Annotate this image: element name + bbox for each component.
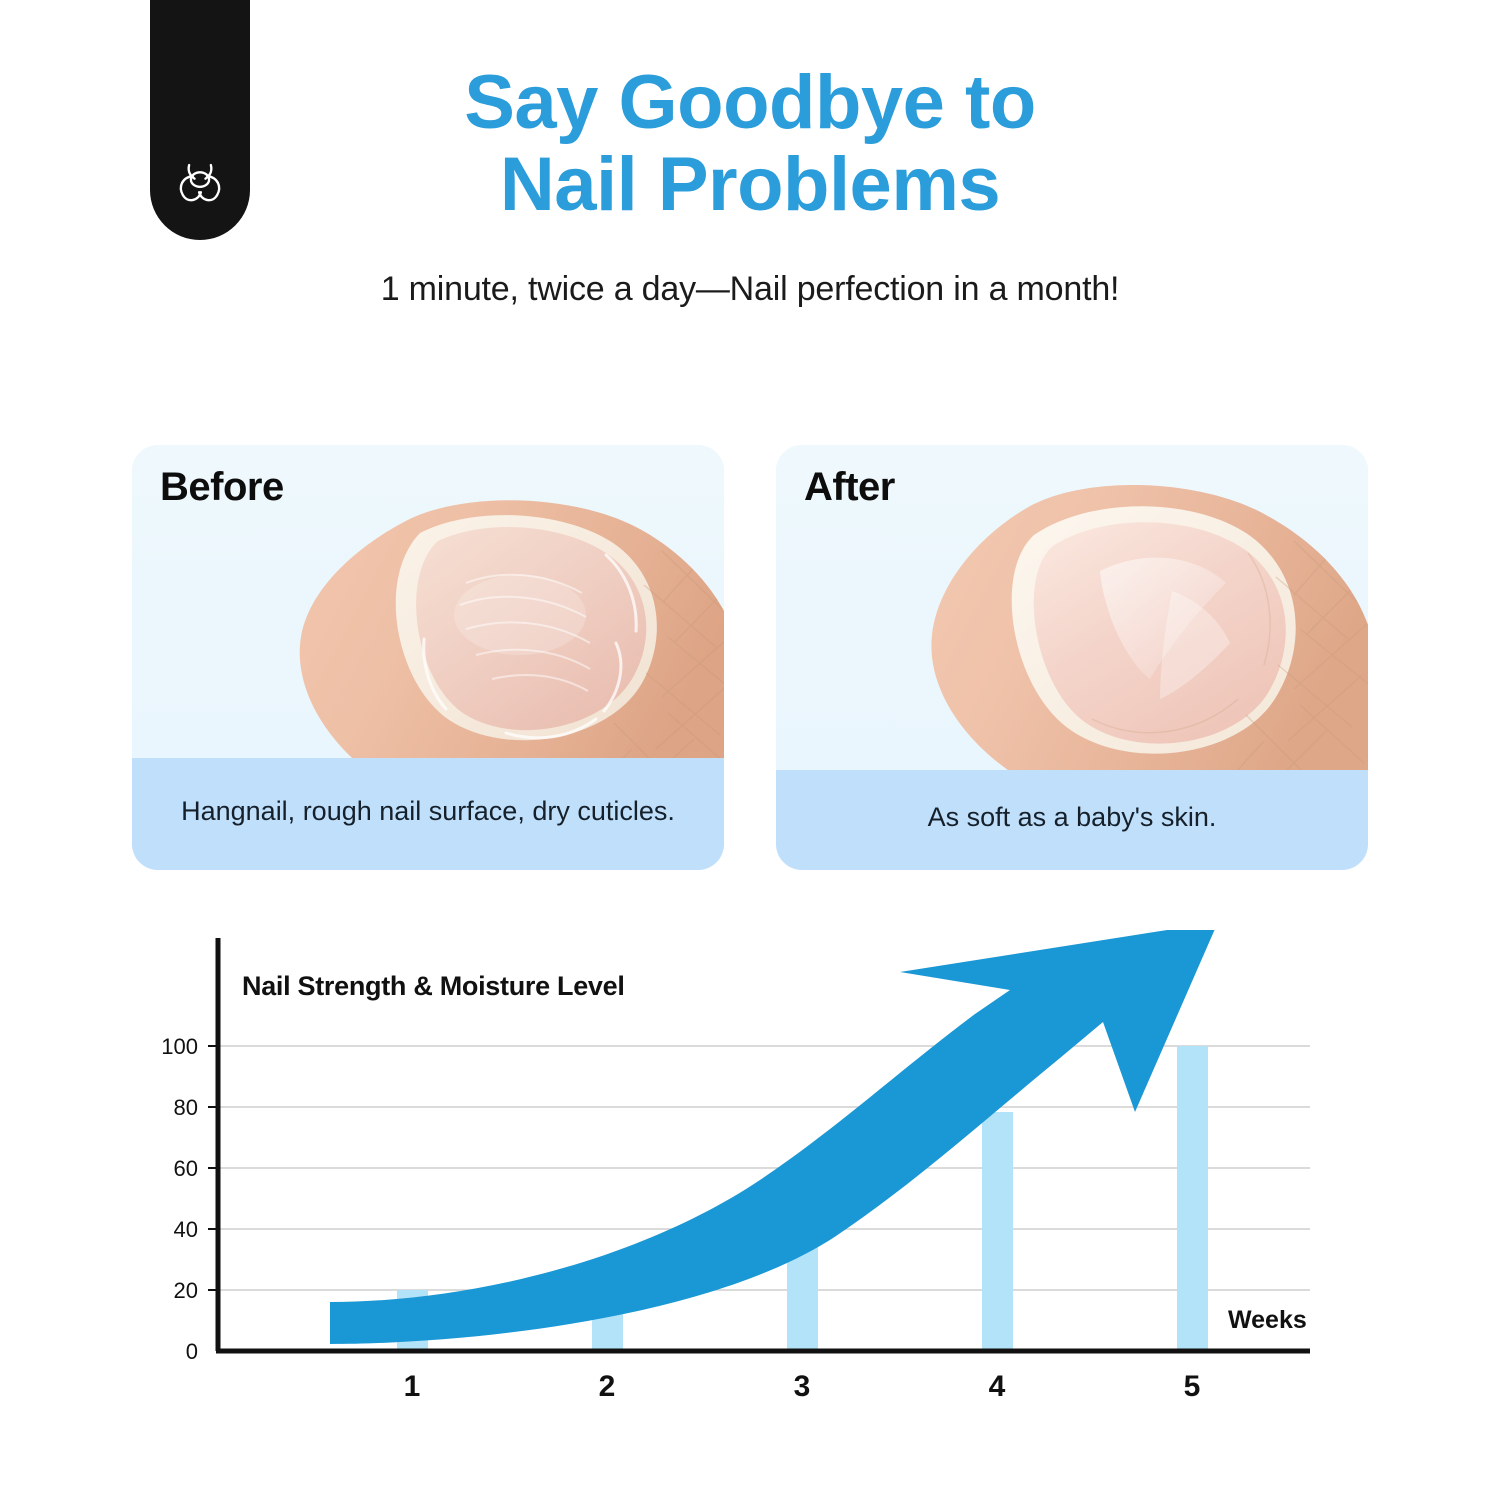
x-tick-label-1: 1 [404,1370,421,1403]
y-tick-label-80: 80 [174,1095,198,1120]
chart-title: Nail Strength & Moisture Level [242,971,625,1001]
chart-x-axis-label: Weeks [1228,1306,1307,1334]
x-tick-label-5: 5 [1184,1370,1201,1403]
growth-chart: 100 80 60 40 20 0 1 2 3 4 5 Nail Strengt… [0,930,1500,1430]
y-tick-label-20: 20 [174,1278,198,1303]
after-card-label: After [804,465,895,510]
after-photo: After [776,445,1368,770]
page-title: Say Goodbye to Nail Problems [0,0,1500,226]
before-fingernail-illustration [270,497,724,758]
before-after-comparison: Before [132,445,1368,870]
x-tick-label-2: 2 [599,1370,616,1403]
bar-week-4 [982,1112,1013,1350]
page-subtitle: 1 minute, twice a day—Nail perfection in… [0,226,1500,309]
before-photo: Before [132,445,724,758]
x-tick-label-4: 4 [989,1370,1006,1403]
before-card-label: Before [160,465,284,510]
headline-line-1: Say Goodbye to [0,62,1500,144]
y-tick-label-0: 0 [186,1339,198,1364]
after-fingernail-illustration [904,483,1368,770]
y-tick-label-60: 60 [174,1156,198,1181]
after-card-caption: As soft as a baby's skin. [776,770,1368,870]
before-card-caption: Hangnail, rough nail surface, dry cuticl… [132,758,724,870]
x-tick-label-3: 3 [794,1370,811,1403]
header: Say Goodbye to Nail Problems 1 minute, t… [0,0,1500,309]
headline-line-2: Nail Problems [0,144,1500,226]
y-tick-label-100: 100 [161,1034,198,1059]
after-card: After [776,445,1368,870]
y-tick-label-40: 40 [174,1217,198,1242]
bar-week-5 [1177,1046,1208,1350]
before-card: Before [132,445,724,870]
